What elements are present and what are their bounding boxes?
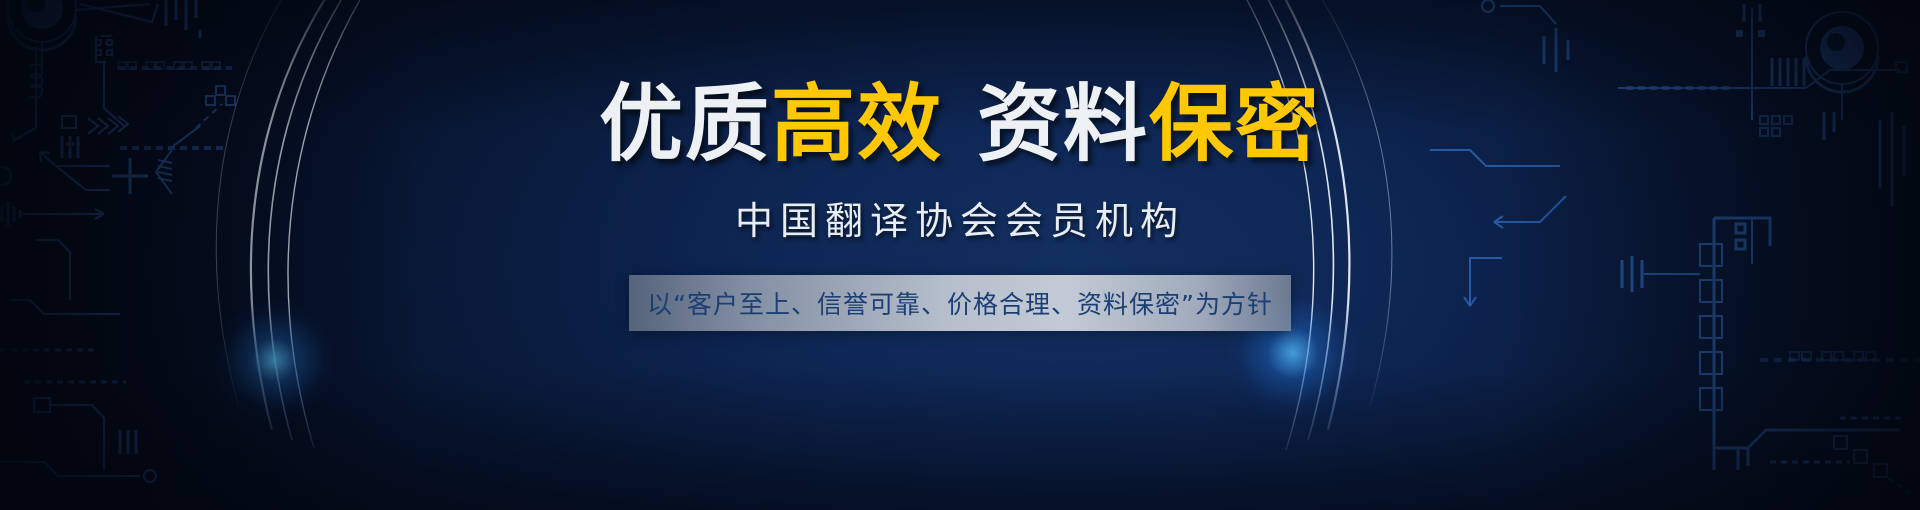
headline-part-4: 保密: [1149, 75, 1321, 173]
subtitle: 中国翻译协会会员机构: [735, 190, 1185, 245]
tagline-bar: 以“客户至上、信誉可靠、价格合理、资料保密”为方针: [629, 275, 1291, 331]
headline-part-1: 优质: [599, 75, 771, 173]
headline: 优质高效资料保密: [599, 82, 1321, 168]
headline-part-3: 资料: [977, 75, 1149, 173]
hero-banner: 优质高效资料保密 中国翻译协会会员机构 以“客户至上、信誉可靠、价格合理、资料保…: [0, 0, 1920, 510]
headline-part-2: 高效: [771, 75, 943, 173]
tagline-text: 以“客户至上、信誉可靠、价格合理、资料保密”为方针: [647, 285, 1273, 321]
banner-content: 优质高效资料保密 中国翻译协会会员机构 以“客户至上、信誉可靠、价格合理、资料保…: [0, 0, 1920, 510]
